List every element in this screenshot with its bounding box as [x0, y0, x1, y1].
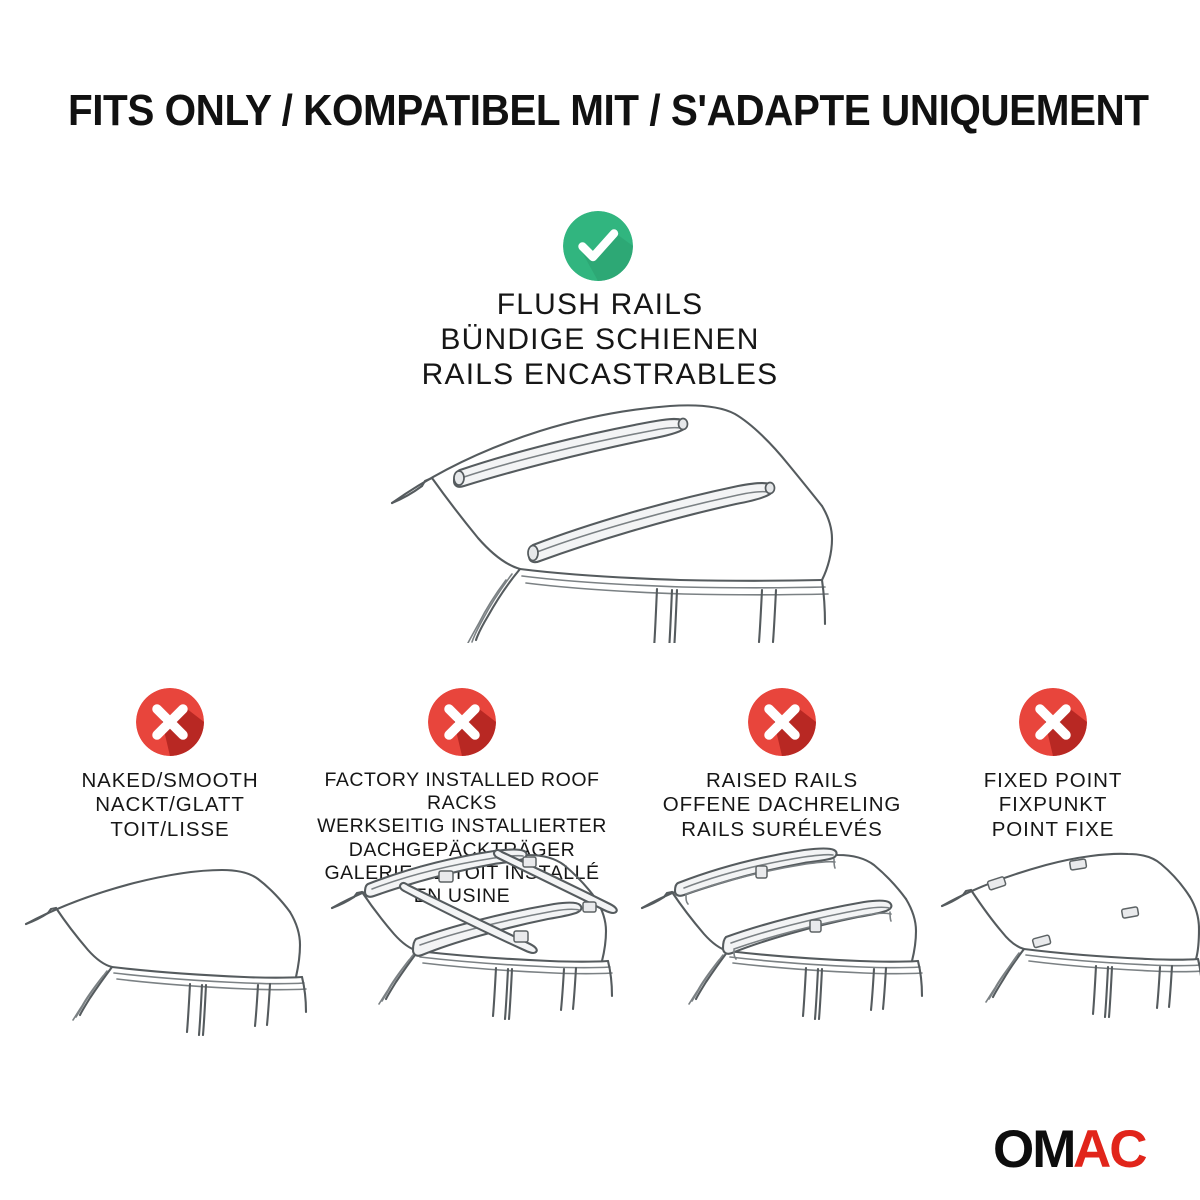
option-label-line-3: RAILS SURÉLEVÉS [632, 818, 932, 842]
car-roof-with-raised-rails-illustration [628, 840, 928, 1055]
incompatible-option-fixed-point: FIXED POINT FIXPUNKT POINT FIXE [903, 688, 1200, 842]
option-label-group: NAKED/SMOOTH NACKT/GLATT TOIT/LISSE [20, 769, 320, 842]
car-roof-with-factory-crossbars-illustration [318, 840, 618, 1055]
badge-wrap [632, 688, 932, 758]
x-circle-icon [748, 688, 816, 756]
hero-label-line-3: RAILS ENCASTRABLES [300, 357, 900, 392]
option-label-line-1: FACTORY INSTALLED ROOF RACKS [312, 769, 612, 815]
option-label-line-3: POINT FIXE [903, 818, 1200, 842]
x-circle-icon [136, 688, 204, 756]
car-roof-with-fixed-points-illustration [930, 842, 1200, 1057]
option-label-line-1: RAISED RAILS [632, 769, 932, 793]
check-circle-icon [563, 211, 633, 281]
option-label-line-1: FIXED POINT [903, 769, 1200, 793]
option-label-group: FIXED POINT FIXPUNKT POINT FIXE [903, 769, 1200, 842]
option-label-line-2: NACKT/GLATT [20, 793, 320, 817]
car-roof-with-flush-rails-illustration [370, 398, 850, 643]
hero-label-line-2: BÜNDIGE SCHIENEN [300, 322, 900, 357]
incompatible-option-raised-rails: RAISED RAILS OFFENE DACHRELING RAILS SUR… [632, 688, 932, 842]
option-label-line-2: WERKSEITIG INSTALLIERTER [312, 815, 612, 838]
option-label-line-3: TOIT/LISSE [20, 818, 320, 842]
omac-logo: OM AC [993, 1126, 1148, 1176]
badge-wrap [903, 688, 1200, 758]
car-roof-bare-illustration [14, 862, 314, 1077]
x-circle-icon [1019, 688, 1087, 756]
badge-wrap [312, 688, 612, 758]
x-circle-icon [428, 688, 496, 756]
hero-label-group: FLUSH RAILS BÜNDIGE SCHIENEN RAILS ENCAS… [300, 287, 900, 392]
option-label-line-1: NAKED/SMOOTH [20, 769, 320, 793]
hero-label-line-1: FLUSH RAILS [300, 287, 900, 322]
page-title: FITS ONLY / KOMPATIBEL MIT / S'ADAPTE UN… [68, 88, 1047, 134]
logo-text-red: AC [1073, 1126, 1146, 1176]
incompatible-option-naked-smooth: NAKED/SMOOTH NACKT/GLATT TOIT/LISSE [20, 688, 320, 842]
option-label-line-2: OFFENE DACHRELING [632, 793, 932, 817]
badge-wrap [20, 688, 320, 758]
option-label-group: RAISED RAILS OFFENE DACHRELING RAILS SUR… [632, 769, 932, 842]
logo-text-black: OM [993, 1126, 1074, 1176]
option-label-line-2: FIXPUNKT [903, 793, 1200, 817]
